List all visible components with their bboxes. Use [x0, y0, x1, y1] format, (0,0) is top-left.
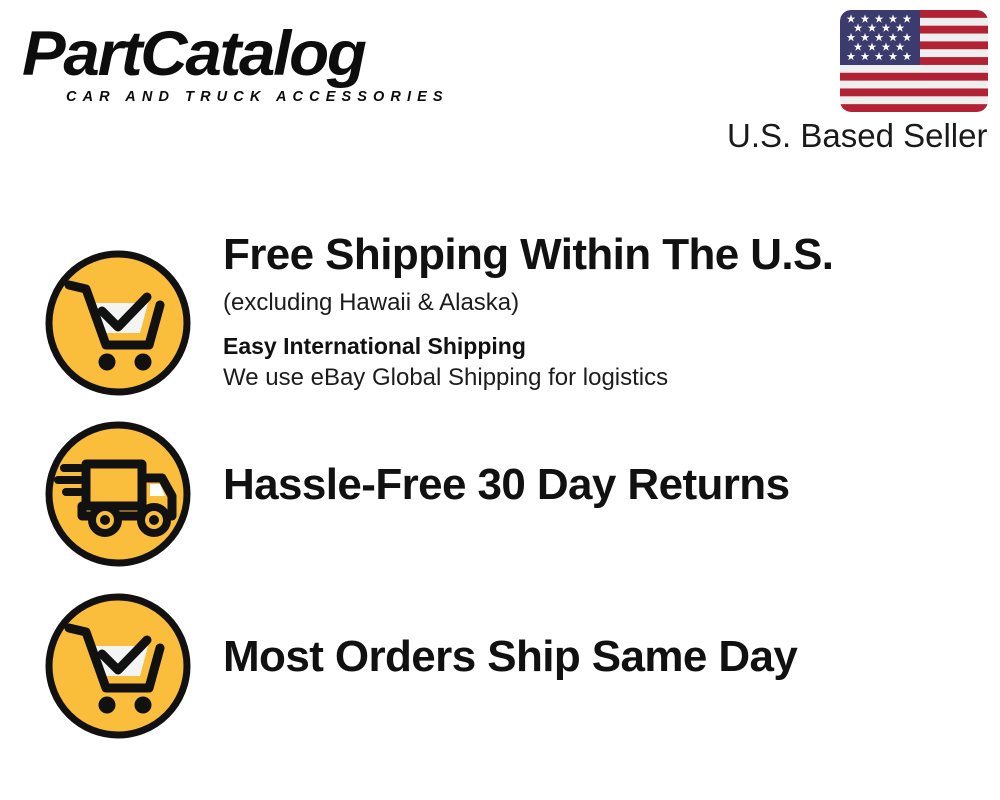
feature-headline: Most Orders Ship Same Day — [223, 632, 990, 682]
feature-subline-plain: We use eBay Global Shipping for logistic… — [223, 363, 990, 393]
feature-text-block: Free Shipping Within The U.S. (excluding… — [223, 230, 990, 393]
feature-text-block: Hassle-Free 30 Day Returns — [223, 460, 990, 510]
feature-row: Most Orders Ship Same Day — [0, 574, 1000, 746]
shopping-cart-check-icon — [44, 592, 192, 740]
delivery-truck-graphic — [44, 420, 192, 568]
feature-text-block: Most Orders Ship Same Day — [223, 632, 990, 682]
us-flag-icon — [840, 10, 988, 112]
feature-row: Hassle-Free 30 Day Returns — [0, 402, 1000, 574]
feature-headline: Free Shipping Within The U.S. — [223, 230, 990, 280]
brand-wordmark: PartCatalog — [22, 22, 511, 86]
delivery-truck-icon — [44, 420, 192, 568]
page-header: PartCatalog CAR AND TRUCK ACCESSORIES — [0, 0, 1000, 170]
feature-subline-strong: Easy International Shipping — [223, 332, 990, 361]
feature-headline: Hassle-Free 30 Day Returns — [223, 460, 990, 510]
feature-row: Free Shipping Within The U.S. (excluding… — [0, 230, 1000, 420]
brand-tagline: CAR AND TRUCK ACCESSORIES — [66, 89, 492, 105]
shopping-cart-check-graphic — [44, 249, 192, 397]
us-flag-graphic — [840, 10, 988, 112]
shopping-cart-check-graphic — [44, 592, 192, 740]
us-based-seller-label: U.S. Based Seller — [727, 117, 985, 155]
brand-logo: PartCatalog CAR AND TRUCK ACCESSORIES — [22, 22, 492, 105]
shopping-cart-check-icon — [44, 249, 192, 397]
feature-subline: (excluding Hawaii & Alaska) — [223, 288, 990, 318]
